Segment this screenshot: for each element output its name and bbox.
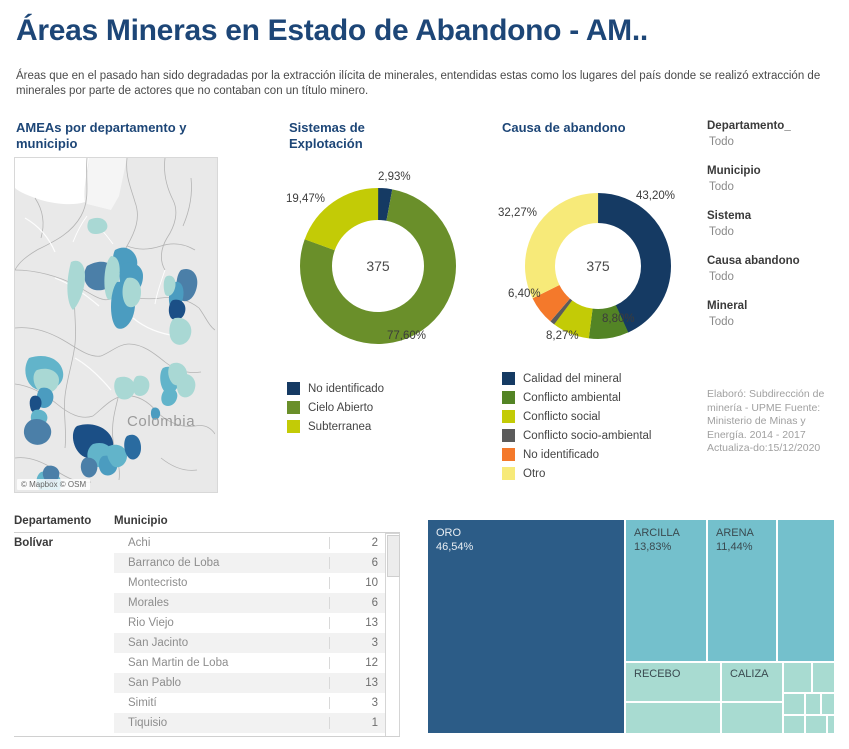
cell-count: 13 <box>329 677 386 689</box>
table-row[interactable]: Tiquisio 1 <box>114 713 386 733</box>
legend-swatch-icon <box>502 448 515 461</box>
treemap-tile-unlabeled-9[interactable] <box>783 715 805 734</box>
treemap-tile-unlabeled-2[interactable] <box>625 702 721 734</box>
cell-municipio: Montecristo <box>114 577 329 589</box>
table-row[interactable]: Rio Viejo 13 <box>114 613 386 633</box>
table-vertical-scrollbar[interactable] <box>385 533 400 737</box>
cell-municipio: Barranco de Loba <box>114 557 329 569</box>
tile-name: ORO <box>436 527 461 539</box>
filter-label: Mineral <box>707 298 847 314</box>
map-view[interactable]: Colombia © Mapbox © OSM <box>14 157 218 493</box>
cell-count: 10 <box>329 577 386 589</box>
legend-item[interactable]: Conflicto socio-ambiental <box>502 426 651 445</box>
map-attribution: © Mapbox © OSM <box>17 479 90 490</box>
sistemas-legend: No identificado Cielo Abierto Subterrane… <box>287 379 384 436</box>
table-row[interactable]: Morales 6 <box>114 593 386 613</box>
filter-departamento[interactable]: Departamento_ Todo <box>707 118 847 150</box>
treemap-tile-unlabeled-3[interactable] <box>721 702 783 734</box>
causa-center-value: 375 <box>518 258 678 274</box>
cell-count: 13 <box>329 617 386 629</box>
causa-label-conflicto-ambiental: 8,80% <box>602 313 635 325</box>
causa-label-conflicto-social: 8,27% <box>546 330 579 342</box>
cell-count: 6 <box>329 557 386 569</box>
table-row[interactable]: Barranco de Loba 6 <box>114 553 386 573</box>
legend-label: Cielo Abierto <box>308 402 373 414</box>
tile-name: ARENA <box>716 527 754 539</box>
scrollbar-thumb[interactable] <box>387 535 400 577</box>
tile-name: RECEBO <box>634 668 680 680</box>
legend-swatch-icon <box>287 382 300 395</box>
cell-municipio: Rio Viejo <box>114 617 329 629</box>
table-row[interactable]: San Jacinto 3 <box>114 633 386 653</box>
map-canvas <box>15 158 215 490</box>
filter-value[interactable]: Todo <box>707 179 847 195</box>
sistemas-donut-chart[interactable]: 375 <box>298 186 458 346</box>
treemap-tile-unlabeled-4[interactable] <box>783 662 812 693</box>
legend-item[interactable]: Otro <box>502 464 651 483</box>
cell-municipio: San Pablo <box>114 677 329 689</box>
sistemas-center-value: 375 <box>298 258 458 274</box>
table-row[interactable]: San Martin de Loba 12 <box>114 653 386 673</box>
treemap-tile-recebo[interactable]: RECEBO <box>625 662 721 702</box>
cell-municipio: Tiquisio <box>114 717 329 729</box>
filter-value[interactable]: Todo <box>707 314 847 330</box>
sistemas-label-subterranea: 19,47% <box>286 193 325 205</box>
tile-name: CALIZA <box>730 668 769 680</box>
table-rows: Achi 2 Barranco de Loba 6 Montecristo 10… <box>114 533 386 733</box>
treemap-tile-unlabeled-6[interactable] <box>783 693 805 715</box>
treemap-tile-oro[interactable]: ORO 46,54% <box>427 519 625 734</box>
legend-label: Conflicto ambiental <box>523 392 621 404</box>
legend-label: No identificado <box>308 383 384 395</box>
legend-item[interactable]: No identificado <box>502 445 651 464</box>
legend-item[interactable]: Conflicto social <box>502 407 651 426</box>
legend-label: No identificado <box>523 449 599 461</box>
legend-item[interactable]: Calidad del mineral <box>502 369 651 388</box>
filter-label: Causa abandono <box>707 253 847 269</box>
table-body: Bolívar Achi 2 Barranco de Loba 6 Montec… <box>14 533 400 737</box>
tile-pct: 11,44% <box>716 540 776 554</box>
treemap-tile-unlabeled-1[interactable] <box>777 519 835 662</box>
treemap-tile-arena[interactable]: ARENA 11,44% <box>707 519 777 662</box>
table-row[interactable]: Montecristo 10 <box>114 573 386 593</box>
causa-legend: Calidad del mineral Conflicto ambiental … <box>502 369 651 483</box>
table-bottom-divider <box>14 736 400 737</box>
legend-swatch-icon <box>287 401 300 414</box>
sistemas-label-cielo-abierto: 77,60% <box>387 330 426 342</box>
dashboard-page: Áreas Mineras en Estado de Abandono - AM… <box>0 0 849 749</box>
table-header-row: Departamento Municipio <box>14 515 400 533</box>
legend-label: Subterranea <box>308 421 371 433</box>
causa-label-no-identificado: 6,40% <box>508 288 541 300</box>
cell-count: 12 <box>329 657 386 669</box>
legend-swatch-icon <box>287 420 300 433</box>
cell-municipio: San Jacinto <box>114 637 329 649</box>
table-department-cell: Bolívar <box>14 537 114 549</box>
filter-mineral[interactable]: Mineral Todo <box>707 298 847 330</box>
causa-donut-chart[interactable]: 375 <box>518 186 678 346</box>
table-row[interactable]: San Pablo 13 <box>114 673 386 693</box>
minerales-treemap[interactable]: ORO 46,54% ARCILLA 13,83% ARENA 11,44% R… <box>427 519 835 734</box>
legend-label: Otro <box>523 468 545 480</box>
causa-label-calidad-del-mineral: 43,20% <box>636 190 675 202</box>
causa-label-otro: 32,27% <box>498 207 537 219</box>
treemap-tile-unlabeled-10[interactable] <box>805 715 827 734</box>
column-header-departamento[interactable]: Departamento <box>14 515 114 527</box>
legend-label: Conflicto socio-ambiental <box>523 430 651 442</box>
legend-swatch-icon <box>502 429 515 442</box>
column-header-municipio[interactable]: Municipio <box>114 515 400 527</box>
legend-item[interactable]: Cielo Abierto <box>287 398 384 417</box>
filter-label: Departamento_ <box>707 118 847 134</box>
cell-count: 3 <box>329 697 386 709</box>
filter-panel: Departamento_ Todo Municipio Todo Sistem… <box>707 118 847 343</box>
legend-swatch-icon <box>502 467 515 480</box>
treemap-tile-unlabeled-7[interactable] <box>805 693 821 715</box>
cell-count: 1 <box>329 717 386 729</box>
filter-causa-abandono[interactable]: Causa abandono Todo <box>707 253 847 285</box>
cell-count: 6 <box>329 597 386 609</box>
legend-item[interactable]: No identificado <box>287 379 384 398</box>
legend-label: Calidad del mineral <box>523 373 621 385</box>
treemap-tile-unlabeled-11[interactable] <box>827 715 835 734</box>
table-row[interactable]: Simití 3 <box>114 693 386 713</box>
causa-panel-title: Causa de abandono <box>502 120 702 136</box>
legend-swatch-icon <box>502 391 515 404</box>
cell-municipio: Simití <box>114 697 329 709</box>
map-panel-title: AMEAs por departamento y municipio <box>16 120 236 152</box>
legend-swatch-icon <box>502 410 515 423</box>
municipios-table: Departamento Municipio Bolívar Achi 2 Ba… <box>14 515 400 749</box>
cell-municipio: Achi <box>114 537 329 549</box>
sistemas-label-no-identificado: 2,93% <box>378 171 411 183</box>
cell-count: 2 <box>329 537 386 549</box>
filter-label: Municipio <box>707 163 847 179</box>
filter-value[interactable]: Todo <box>707 269 847 285</box>
cell-municipio: Morales <box>114 597 329 609</box>
tile-pct: 46,54% <box>436 540 624 554</box>
tile-pct: 13,83% <box>634 540 706 554</box>
filter-municipio[interactable]: Municipio Todo <box>707 163 847 195</box>
cell-municipio: San Martin de Loba <box>114 657 329 669</box>
legend-item[interactable]: Conflicto ambiental <box>502 388 651 407</box>
page-subtitle: Áreas que en el pasado han sido degradad… <box>16 69 828 99</box>
credits-text: Elaboró: Subdirección de minería - UPME … <box>707 388 842 456</box>
treemap-tile-unlabeled-8[interactable] <box>821 693 835 715</box>
table-row[interactable]: Achi 2 <box>114 533 386 553</box>
filter-value[interactable]: Todo <box>707 224 847 240</box>
tile-name: ARCILLA <box>634 527 680 539</box>
legend-label: Conflicto social <box>523 411 600 423</box>
legend-item[interactable]: Subterranea <box>287 417 384 436</box>
legend-swatch-icon <box>502 372 515 385</box>
filter-label: Sistema <box>707 208 847 224</box>
treemap-tile-arcilla[interactable]: ARCILLA 13,83% <box>625 519 707 662</box>
cell-count: 3 <box>329 637 386 649</box>
page-title: Áreas Mineras en Estado de Abandono - AM… <box>16 14 648 48</box>
sistemas-panel-title: Sistemas de Explotación <box>289 120 439 152</box>
filter-value[interactable]: Todo <box>707 134 847 150</box>
filter-sistema[interactable]: Sistema Todo <box>707 208 847 240</box>
treemap-tile-caliza[interactable]: CALIZA <box>721 662 783 702</box>
treemap-tile-unlabeled-5[interactable] <box>812 662 835 693</box>
